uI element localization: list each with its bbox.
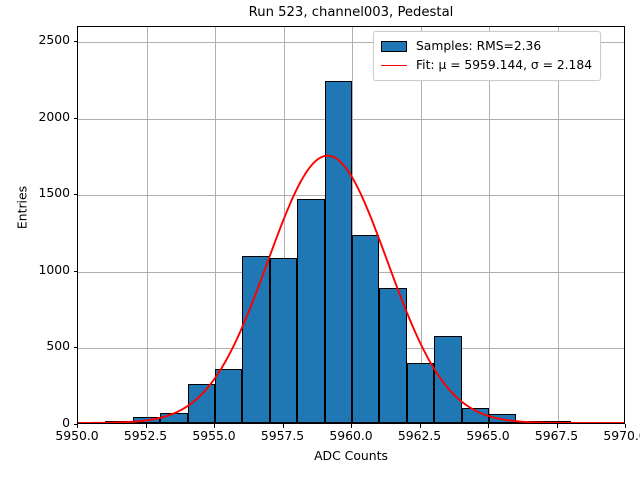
plot-area xyxy=(77,26,625,424)
y-tick-mark xyxy=(74,424,78,425)
x-tick-mark xyxy=(214,424,215,428)
y-tick-label: 2000 xyxy=(12,109,70,124)
x-tick-mark xyxy=(557,424,558,428)
y-axis-tick-labels: 05001000150020002500 xyxy=(8,26,70,424)
legend-swatch-samples-icon xyxy=(381,41,407,52)
page-title: Run 523, channel003, Pedestal xyxy=(77,4,625,22)
y-tick-label: 500 xyxy=(12,338,70,353)
legend-swatch-fit-icon xyxy=(381,65,407,66)
x-tick-mark xyxy=(625,424,626,428)
x-tick-label: 5970.0 xyxy=(585,428,640,443)
x-tick-mark xyxy=(420,424,421,428)
y-tick-label: 1000 xyxy=(12,262,70,277)
y-tick-label: 1500 xyxy=(12,185,70,200)
x-tick-mark xyxy=(351,424,352,428)
legend-label-fit: Fit: μ = 5959.144, σ = 2.184 xyxy=(416,56,592,75)
fit-curve-path xyxy=(78,156,624,423)
legend-item-fit: Fit: μ = 5959.144, σ = 2.184 xyxy=(381,56,592,75)
x-axis-label: ADC Counts xyxy=(77,448,625,463)
y-tick-label: 2500 xyxy=(12,32,70,47)
x-tick-mark xyxy=(283,424,284,428)
legend: Samples: RMS=2.36 Fit: μ = 5959.144, σ =… xyxy=(373,31,601,81)
x-tick-mark xyxy=(146,424,147,428)
x-tick-mark xyxy=(488,424,489,428)
histogram-figure: Run 523, channel003, Pedestal Entries AD… xyxy=(0,0,640,480)
legend-label-samples: Samples: RMS=2.36 xyxy=(416,37,541,56)
gaussian-fit-curve xyxy=(78,27,624,423)
legend-item-samples: Samples: RMS=2.36 xyxy=(381,37,592,56)
